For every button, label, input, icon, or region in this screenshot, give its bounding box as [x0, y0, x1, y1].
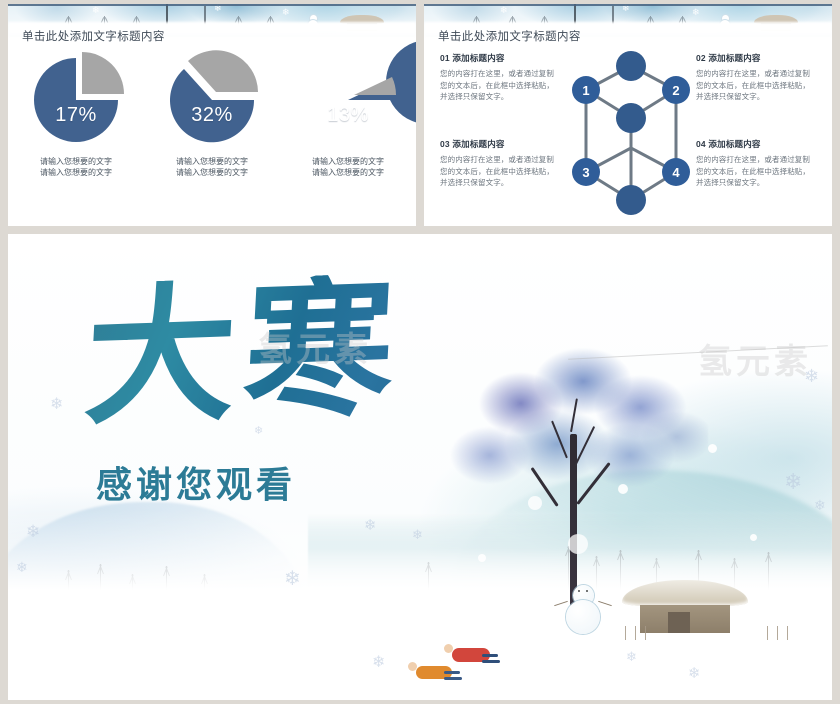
pie-caption-line: 请输入您想要的文字 — [176, 156, 248, 167]
cube-node-bottom[interactable] — [616, 185, 646, 215]
pie-chart-3[interactable]: 13% — [298, 50, 398, 150]
banner-tree-trunk — [612, 6, 614, 30]
snow-dot — [528, 496, 542, 510]
pie-caption: 请输入您想要的文字 请输入您想要的文字 — [312, 156, 384, 178]
hut-roof — [622, 580, 748, 606]
fence-post — [787, 626, 788, 640]
snowman-eye — [578, 590, 580, 592]
fence-post — [777, 626, 778, 640]
snowflake-icon: ❄ — [282, 8, 290, 17]
slide-pie-charts[interactable]: ❄ ❄ ❄ 单击此处添加文字标题内容 17% 请输入您想要的文字 请输入您想要的… — [8, 4, 416, 226]
winter-illustration: ❄ ❄ ❄ ❄ ❄ ❄ ❄ ❄ ❄ ❄ ❄ ❄ ❄ 大寒 感谢您观看 氢元素 氢… — [8, 234, 832, 700]
pie-caption-line: 请输入您想要的文字 — [40, 156, 112, 167]
fence-post — [767, 626, 768, 640]
tree-canopy — [448, 348, 708, 533]
snow-dot — [750, 534, 757, 541]
page-title: 单击此处添加文字标题内容 — [438, 28, 581, 44]
cube-node-1-label: 1 — [582, 83, 589, 98]
pie-chart-3-svg — [298, 50, 398, 150]
text-block-02[interactable]: 02 添加标题内容 您的内容打在这里，或者通过复制您的文本后，在此框中选择粘贴，… — [696, 52, 812, 103]
text-block-02-body: 您的内容打在这里，或者通过复制您的文本后，在此框中选择粘贴，并选择只保留文字。 — [696, 68, 812, 103]
text-block-01-body: 您的内容打在这里，或者通过复制您的文本后，在此框中选择粘贴，并选择只保留文字。 — [440, 68, 556, 103]
banner-twig — [270, 16, 271, 29]
pie-slice-exploded — [82, 52, 124, 94]
pie-caption-line: 请输入您想要的文字 — [312, 167, 384, 178]
snowman-body — [566, 600, 600, 634]
snow-dot — [478, 554, 486, 562]
snowflake-icon: ❄ — [500, 6, 508, 15]
text-block-04-heading: 04 添加标题内容 — [696, 138, 812, 150]
cube-node-center-upper[interactable] — [616, 103, 646, 133]
slide-top-rule — [424, 4, 832, 6]
slide-thank-you[interactable]: ❄ ❄ ❄ ❄ ❄ ❄ ❄ ❄ ❄ ❄ ❄ ❄ ❄ 大寒 感谢您观看 氢元素 氢… — [8, 234, 832, 700]
text-block-01[interactable]: 01 添加标题内容 您的内容打在这里，或者通过复制您的文本后，在此框中选择粘贴，… — [440, 52, 556, 103]
pie-chart-1-svg — [26, 50, 126, 150]
snowman-eye — [586, 590, 588, 592]
snowman — [566, 582, 600, 634]
pie-chart-row: 17% 请输入您想要的文字 请输入您想要的文字 32% 请输入您想要的文字 请输… — [8, 50, 416, 178]
text-block-01-heading: 01 添加标题内容 — [440, 52, 556, 64]
child-red-leg — [482, 660, 500, 663]
fence-post — [635, 626, 636, 640]
snowflake-icon: ❄ — [692, 8, 700, 17]
text-block-03-body: 您的内容打在这里，或者通过复制您的文本后，在此框中选择粘贴，并选择只保留文字。 — [440, 154, 556, 189]
subtitle-text: 感谢您观看 — [96, 456, 296, 508]
snow-dot — [568, 534, 588, 554]
hut-door — [668, 612, 690, 633]
text-block-04[interactable]: 04 添加标题内容 您的内容打在这里，或者通过复制您的文本后，在此框中选择粘贴，… — [696, 138, 812, 189]
pie-chart-2[interactable]: 32% — [162, 50, 262, 150]
cube-network-diagram[interactable]: 1 2 3 4 — [572, 50, 690, 216]
pie-chart-1[interactable]: 17% — [26, 50, 126, 150]
snow-dot — [708, 444, 717, 453]
banner-twig — [650, 16, 651, 29]
banner-snowman — [308, 15, 318, 30]
pie-caption-line: 请输入您想要的文字 — [312, 156, 384, 167]
cube-diagram-area: 01 添加标题内容 您的内容打在这里，或者通过复制您的文本后，在此框中选择粘贴，… — [424, 44, 832, 222]
watercolor-tree — [448, 348, 708, 608]
fence-post — [625, 626, 626, 640]
pie-chart-item[interactable]: 32% 请输入您想要的文字 请输入您想要的文字 — [152, 50, 272, 178]
banner-hut — [344, 15, 380, 30]
child-orange-leg — [444, 671, 460, 674]
slide-top-rule — [8, 4, 416, 6]
pie-chart-2-svg — [162, 50, 262, 150]
thatched-hut — [630, 580, 740, 638]
banner-twig — [682, 16, 683, 29]
child-orange-head — [408, 662, 417, 671]
child-red-leg — [482, 654, 498, 657]
cube-node-top[interactable] — [616, 51, 646, 81]
child-red-head — [444, 644, 453, 653]
snowflake-icon: ❄ — [92, 6, 100, 15]
slide-cube-diagram[interactable]: ❄ ❄ ❄ 单击此处添加文字标题内容 01 添加标题内容 您的内容打在这里，或者… — [424, 4, 832, 226]
pie-chart-item[interactable]: 13% 请输入您想要的文字 请输入您想要的文字 — [288, 50, 408, 178]
child-orange-leg — [444, 677, 462, 680]
banner-tree-trunk — [166, 4, 168, 30]
page-title: 单击此处添加文字标题内容 — [22, 28, 165, 44]
snow-dot — [618, 484, 628, 494]
snow-dot — [308, 586, 317, 595]
pie-caption: 请输入您想要的文字 请输入您想要的文字 — [40, 156, 112, 178]
banner-twig — [238, 16, 239, 29]
text-block-03[interactable]: 03 添加标题内容 您的内容打在这里，或者通过复制您的文本后，在此框中选择粘贴，… — [440, 138, 556, 189]
banner-tree-trunk — [574, 4, 576, 30]
text-block-03-heading: 03 添加标题内容 — [440, 138, 556, 150]
text-block-04-body: 您的内容打在这里，或者通过复制您的文本后，在此框中选择粘贴，并选择只保留文字。 — [696, 154, 812, 189]
fence-post — [645, 626, 646, 640]
cube-node-2-label: 2 — [672, 83, 679, 98]
pie-caption-line: 请输入您想要的文字 — [40, 167, 112, 178]
pie-slice-exploded — [354, 77, 396, 95]
pie-chart-item[interactable]: 17% 请输入您想要的文字 请输入您想要的文字 — [16, 50, 136, 178]
pie-caption: 请输入您想要的文字 请输入您想要的文字 — [176, 156, 248, 178]
banner-snowman — [720, 15, 730, 30]
pie-caption-line: 请输入您想要的文字 — [176, 167, 248, 178]
banner-hut — [758, 15, 794, 30]
banner-tree-trunk — [204, 6, 206, 30]
cube-node-4-label: 4 — [672, 165, 680, 180]
child-orange — [402, 660, 464, 684]
cube-node-3-label: 3 — [582, 165, 589, 180]
text-block-02-heading: 02 添加标题内容 — [696, 52, 812, 64]
